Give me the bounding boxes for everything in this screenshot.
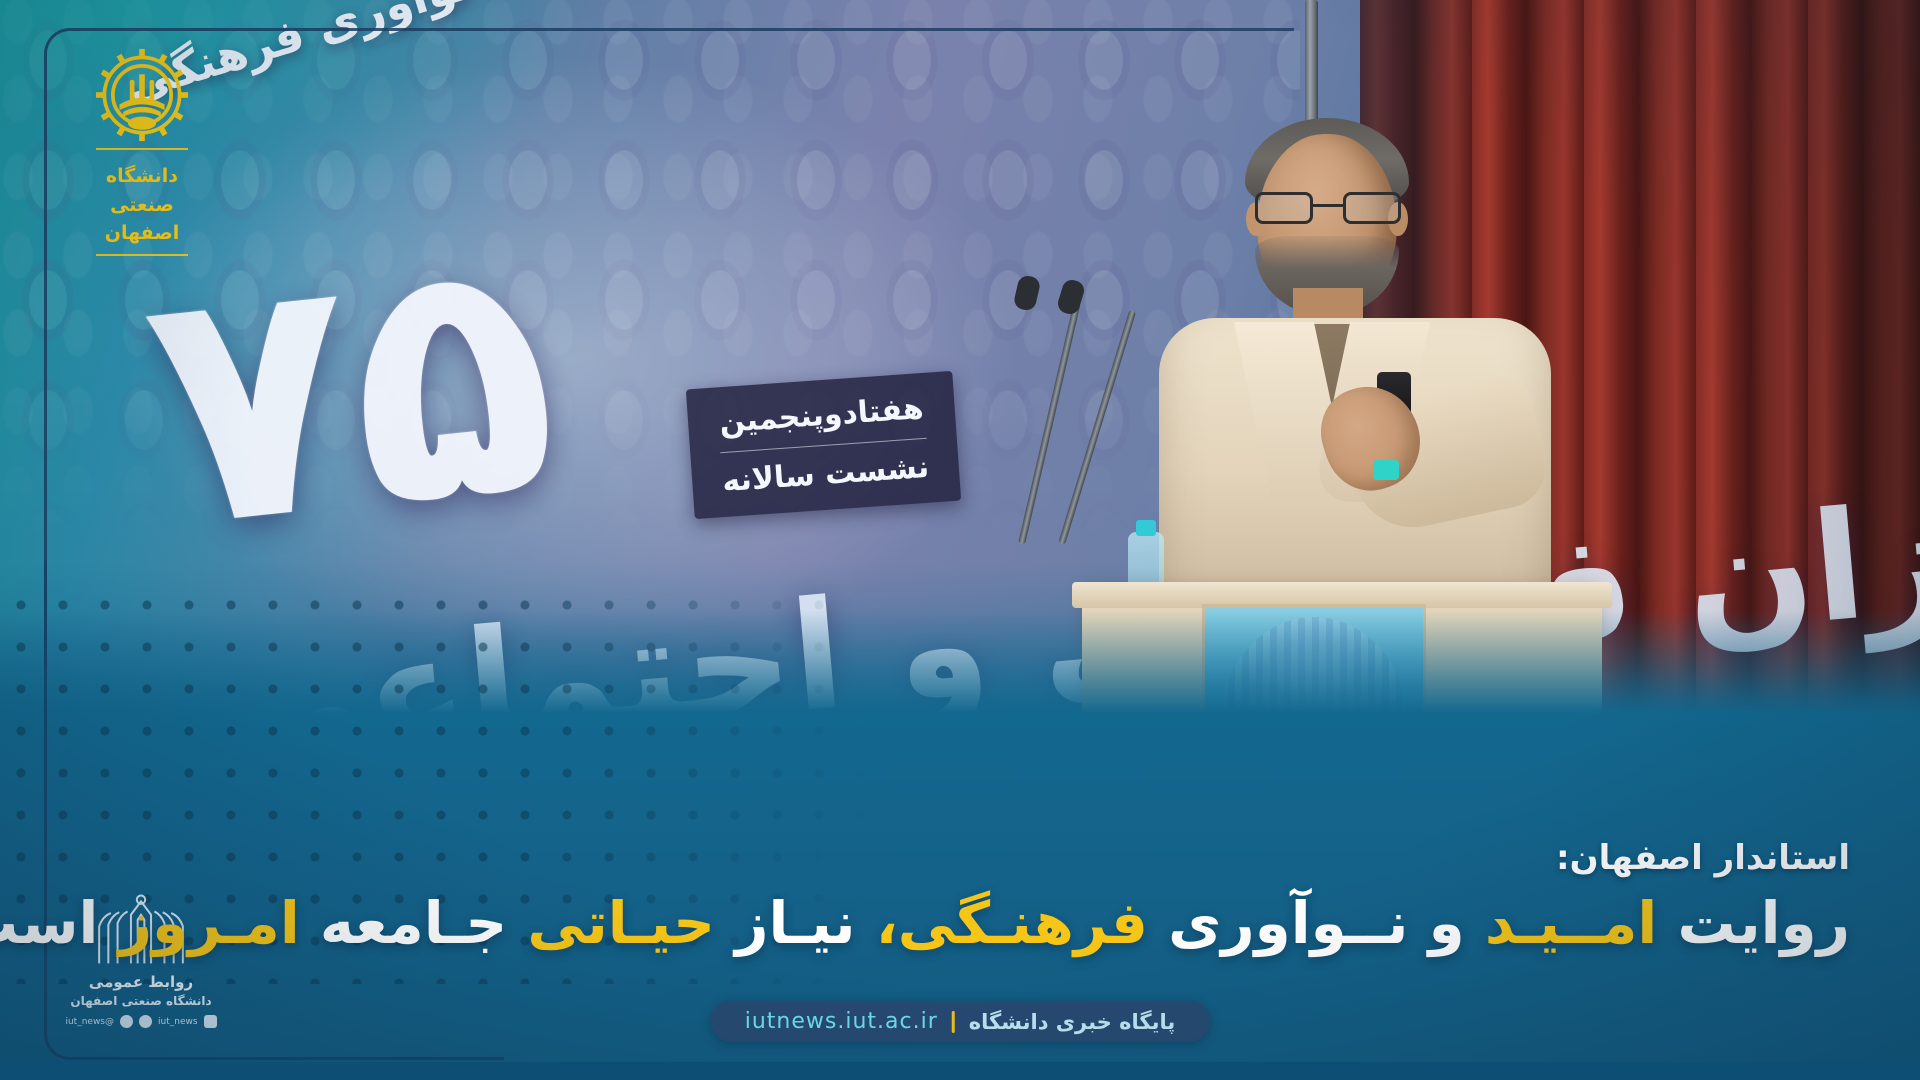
- logo-divider-top: [96, 148, 188, 150]
- headline-word-1: امــیـد: [1465, 889, 1658, 957]
- footer-separator: [952, 1011, 955, 1033]
- headline-word-4: فرهنـگی،: [856, 889, 1148, 957]
- whatsapp-icon[interactable]: [139, 1015, 152, 1028]
- logo-divider-bottom: [96, 254, 188, 256]
- logo-line-2: صنعتی: [72, 191, 212, 220]
- headline-word-5: نیـاز: [715, 889, 856, 957]
- headline: روایت امــیـد و نــوآوری فرهنـگی، نیـاز …: [180, 886, 1850, 961]
- footer-url-pill[interactable]: پایگاه خبری دانشگاه iutnews.iut.ac.ir: [711, 1001, 1210, 1042]
- iut-gear-emblem-icon: [95, 48, 189, 142]
- telegram-icon[interactable]: [120, 1015, 133, 1028]
- instagram-handle: iut_news: [158, 1017, 198, 1027]
- pr-logo-line-2: دانشگاه صنعتی اصفهان: [56, 994, 226, 1008]
- speaker-wristband: [1373, 460, 1399, 480]
- footer-site-label: پایگاه خبری دانشگاه: [969, 1010, 1176, 1034]
- headline-word-7: جـامعه: [300, 889, 507, 957]
- glasses-bridge: [1313, 204, 1343, 207]
- headline-word-0: روایت: [1657, 889, 1850, 957]
- kicker-text: استاندار اصفهان:: [1556, 838, 1850, 878]
- glasses-lens-right: [1343, 192, 1401, 224]
- headline-word-2: و: [1408, 889, 1464, 957]
- pr-logo-line-1: روابط عمومی: [56, 973, 226, 991]
- headline-word-9: است: [0, 889, 98, 957]
- pr-social-row: iut_news @iut_news: [56, 1015, 226, 1028]
- headline-word-3: نــوآوری: [1148, 889, 1408, 957]
- headline-word-6: حیـاتی: [507, 889, 715, 957]
- logo-line-3: اصفهان: [72, 219, 212, 248]
- logo-text-block: دانشگاه صنعتی اصفهان: [72, 162, 212, 248]
- poster-canvas: دانشگاه آینده ایرانی، حکمرانی فروتنانه، …: [0, 0, 1920, 1080]
- headline-word-8: امـروز: [98, 889, 299, 957]
- pr-social-handle: @iut_news: [65, 1017, 114, 1027]
- instagram-icon[interactable]: [204, 1015, 217, 1028]
- bottom-edge-bar: [0, 1062, 1920, 1080]
- university-logo: دانشگاه صنعتی اصفهان: [72, 48, 212, 262]
- logo-line-1: دانشگاه: [72, 162, 212, 191]
- footer-url[interactable]: iutnews.iut.ac.ir: [745, 1009, 938, 1034]
